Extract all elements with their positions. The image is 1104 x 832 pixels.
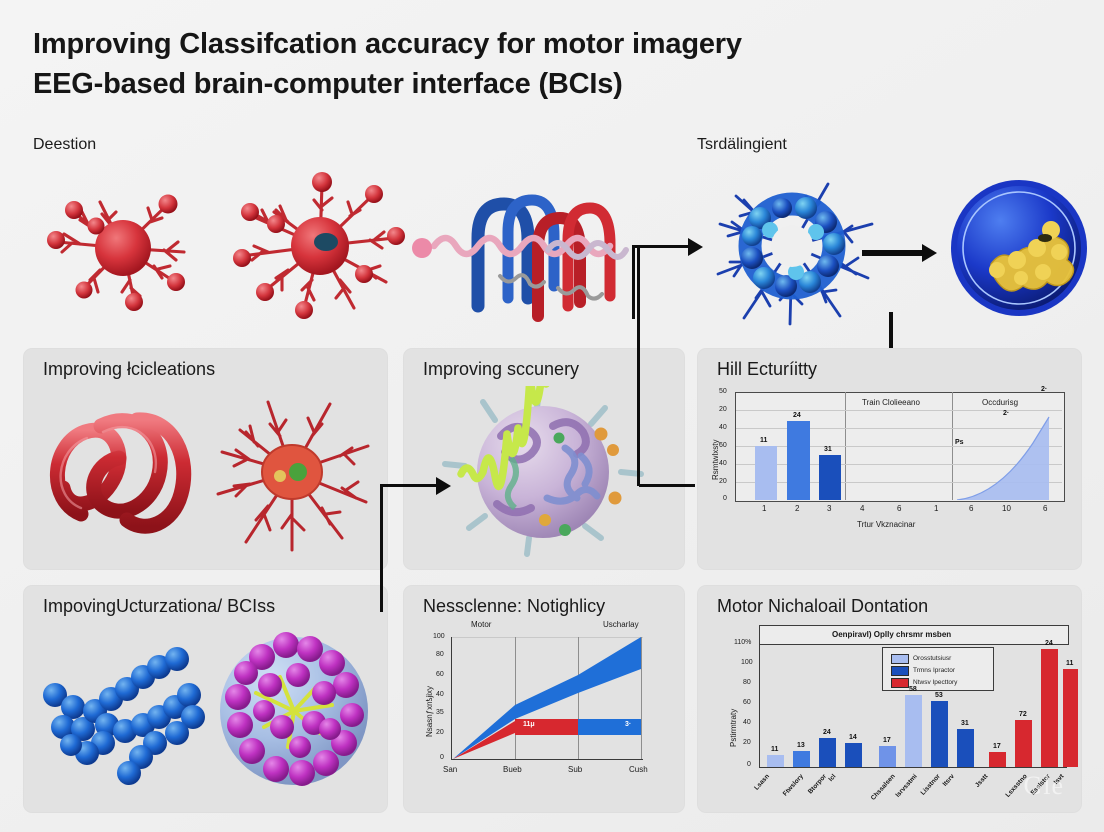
panel-improving-cicleations: Improving łcicleations [23,348,388,570]
bar-f-5 [879,746,896,767]
y-tick: 80 [436,651,444,658]
panel-improving-sccunery: Improving sccunery [403,348,685,570]
connector-line-right [862,250,924,256]
y-tick: 20 [719,478,727,485]
x-tick: Ftwslory [782,773,805,798]
bar-1 [755,446,777,500]
bar-f-6 [905,695,922,767]
legend-swatch-1 [891,654,909,664]
area-label-1: Ps [955,439,964,446]
x-tick: San [443,765,457,774]
annotation-right: Uscharlay [603,620,639,629]
x-axis-label: Trtur Vkznacinar [857,520,915,529]
red-astrocyte-illustration [206,390,374,558]
watermark: Gle [1023,771,1064,801]
y-tick: 110% [734,639,751,646]
panel-hill-ecturiitty: Hill Ecturíitty 50 20 40 60 40 20 0 Rsm… [697,348,1082,570]
panel-d-title: ImpovingUcturzationa/ BCIss [43,596,275,617]
y-tick: 20 [743,739,751,746]
page-title-line1: Improving Classifcation accuracy for mot… [33,28,742,60]
blue-red-protein-loops-illustration [408,166,668,331]
legend-label-2: Trmns Ipractor [913,667,955,674]
band-label-2: 3· [625,721,631,728]
x-tick: 6 [1043,504,1047,513]
bar-f-value-5: 17 [883,737,891,744]
y-tick: 0 [723,495,727,502]
panel-c-chart: 50 20 40 60 40 20 0 Rsmtwlxsty Train Clo… [697,348,1082,570]
bar-value-3: 31 [824,446,832,453]
connector-line-b-to-c-horizontal [639,484,695,487]
blue-dendrite-torus-illustration [700,166,890,331]
x-tick: Chssalsen [870,773,897,802]
x-tick: Icl [827,773,837,783]
bar-f-1 [767,755,784,767]
page-title: Improving Classifcation accuracy for mot… [33,24,933,104]
bar-f-value-9: 17 [993,743,1001,750]
arrow-head-right-2 [922,244,937,262]
y-axis-label: Rsmtwlxsty [711,440,720,480]
red-band-series [451,681,645,761]
x-tick: 3 [827,504,831,513]
red-neuron-illustration [28,168,218,328]
x-tick: Lsasn [753,773,771,792]
x-tick: Cush [629,765,648,774]
bar-f-value-10: 72 [1019,711,1027,718]
bar-value-1: 11 [760,437,767,444]
annotation-left: Motor [471,620,491,629]
area-label-3: 2· [1041,386,1047,393]
panel-b-title: Improving sccunery [423,359,579,380]
y-tick: 60 [743,699,751,706]
connector-line-d-to-b-horizontal [380,484,438,487]
blue-cell-yellow-branch-illustration [945,172,1095,324]
bar-f-value-3: 24 [823,729,831,736]
infographic-canvas: Improving Classifcation accuracy for mot… [0,0,1104,832]
panel-e-chart: 100 80 60 40 35 20 0 Nsasnƒxnƾjixy Motor… [403,585,685,813]
bar-f-value-7: 53 [935,692,943,699]
x-tick: Itsrv [942,773,956,788]
x-tick: Btorpor [807,773,828,795]
connector-line-b-to-c-vertical [637,248,640,486]
bar-f-12 [1063,669,1078,767]
area-label-2: 2· [1003,410,1009,417]
x-tick: 4 [860,504,864,513]
y-tick: 60 [719,442,727,449]
bar-f-9 [989,752,1006,767]
bar-f-11 [1041,649,1058,767]
bar-f-value-11: 24 [1045,640,1053,647]
bar-f-value-6: 58 [909,686,917,693]
page-title-line2: EEG-based brain-computer interface (BCIs… [33,64,933,104]
y-tick: 80 [743,679,751,686]
legend-swatch-2 [891,666,909,676]
x-tick: 1 [762,504,766,513]
blue-molecule-chain-illustration [37,633,217,793]
y-tick: 50 [719,388,727,395]
y-axis [759,643,760,767]
panel-motor-nichaloail-dontation: Motor Nichaloail Dontation Oenpiravl) Op… [697,585,1082,813]
x-tick: Jsstt [974,773,989,789]
section-label-right: Tsrdälingient [697,136,787,154]
legend-label-1: Orosstutsiusr [913,655,951,662]
bar-f-2 [793,751,810,767]
bar-3 [819,455,841,500]
legend-label-3: Ntwsv Ipecttory [913,679,957,686]
chart-title: Oenpiravl) Oplly chrsmr msben [832,630,951,639]
x-tick: 6 [897,504,901,513]
connector-line-d-to-b-vertical [380,486,383,612]
panel-improving-ucturzationa-bciss: ImpovingUcturzationa/ BCIss [23,585,388,813]
arrow-head-into-panel-b [436,477,451,495]
top-illustration-band [0,160,1104,335]
red-knot-tube-illustration [41,396,211,556]
y-axis-label: Pstirmtraty [729,709,738,747]
bar-f-10 [1015,720,1032,767]
x-tick: 10 [1002,504,1011,513]
legend-swatch-3 [891,678,909,688]
purple-cell-green-waveform-illustration [425,386,665,564]
bar-f-3 [819,738,836,767]
panel-a-title: Improving łcicleations [43,359,215,380]
y-tick: 0 [440,754,444,761]
bar-value-2: 24 [793,412,801,419]
x-tick: 6 [969,504,973,513]
y-tick: 40 [719,460,727,467]
bar-f-value-4: 14 [849,734,857,741]
section-label-left: Deestion [33,136,96,154]
legend: Orosstutsiusr Trmns Ipractor Ntwsv Ipect… [882,647,994,691]
x-tick: 1 [934,504,938,513]
panel-nessclenne-notighlicy: Nessclenne: Notighlicy 100 80 60 40 35 2… [403,585,685,813]
x-tick: Isrvsstmi [894,773,918,799]
y-tick: 35 [436,709,444,716]
x-axis [759,767,1067,768]
y-tick: 20 [436,729,444,736]
y-tick: 100 [741,659,753,666]
bar-f-value-2: 13 [797,742,805,749]
bar-f-4 [845,743,862,767]
connector-line-horizontal [632,245,690,248]
red-neuron-dark-nucleus-illustration [218,162,418,334]
y-tick: 20 [719,406,727,413]
y-tick: 0 [747,761,751,768]
y-tick: 40 [436,691,444,698]
bar-f-value-8: 31 [961,720,969,727]
bar-f-8 [957,729,974,767]
bar-2 [787,421,810,500]
magenta-receptor-cell-illustration [208,623,380,795]
x-tick: Sub [568,765,582,774]
band-label-1: 11μ [523,721,535,728]
x-tick: Bueb [503,765,522,774]
connector-line-vertical [632,245,635,319]
bar-f-value-1: 11 [771,746,778,753]
y-tick: 40 [719,424,727,431]
x-tick: 2 [795,504,799,513]
bar-f-7 [931,701,948,767]
y-tick: 60 [436,671,444,678]
y-tick: 40 [743,719,751,726]
x-tick: Lisstnor [919,773,941,797]
column-header-1: Train Clolieeano [862,398,920,407]
y-axis-label: Nsasnƒxnƾjixy [425,686,434,737]
y-tick: 100 [433,633,445,640]
bar-f-value-12: 11 [1066,660,1073,667]
